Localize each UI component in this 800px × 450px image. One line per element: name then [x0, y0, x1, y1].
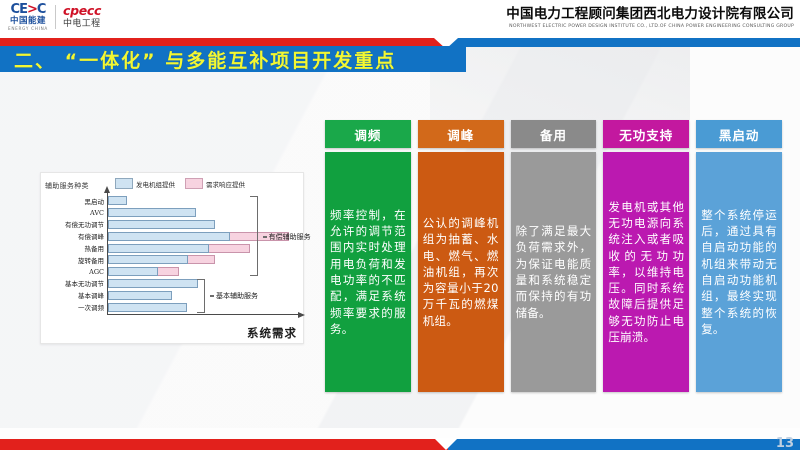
- service-column-2[interactable]: 备用除了满足最大负荷需求外，为保证电能质量和系统稳定而保持的有功储备。: [511, 120, 597, 392]
- service-column-heading: 无功支持: [603, 120, 689, 148]
- logo-energy-china: CE>C 中国能建 ENERGY CHINA: [8, 3, 48, 31]
- service-type-columns: 调频频率控制，在允许的调节范围内实时处理用电负荷和发电功率的不匹配，满足系统频率…: [325, 120, 782, 392]
- chart-bar-segment-generator: [108, 255, 188, 264]
- chart-category-label: 黑启动: [85, 196, 105, 206]
- service-column-heading: 备用: [511, 120, 597, 148]
- slide-title-bar: 二、 “一体化” 与多能互补项目开发重点: [0, 46, 466, 72]
- chart-bar-segment-generator: [108, 220, 215, 229]
- chart-bar-segment-demand-response: [188, 255, 214, 264]
- footer-band-blue: [448, 439, 800, 450]
- logo-cpecc: cpecc 中电工程: [63, 4, 101, 29]
- chart-bar-segment-generator: [108, 279, 198, 288]
- service-column-text: 公认的调峰机组为抽蓄、水电、燃气、燃油机组，再次为容量小于20万千瓦的燃煤机组。: [423, 215, 499, 329]
- service-column-text: 除了满足最大负荷需求外，为保证电能质量和系统稳定而保持的有功储备。: [516, 223, 592, 321]
- x-axis-arrow-icon: [298, 312, 305, 318]
- footer-band-notch: [434, 438, 458, 450]
- ancillary-services-chart: 辅助服务种类 发电机组提供 需求响应提供 黑启动AVC有偿无功调节有偿调峰热备用…: [40, 172, 304, 344]
- logo-energy-china-mark: CE>C: [11, 3, 46, 16]
- chart-bar-row: AVC: [108, 208, 295, 217]
- service-column-0[interactable]: 调频频率控制，在允许的调节范围内实时处理用电负荷和发电功率的不匹配，满足系统频率…: [325, 120, 411, 392]
- chart-legend: 发电机组提供 需求响应提供: [115, 178, 245, 189]
- service-column-body: 整个系统停运后，通过具有自启动功能的机组来带动无自启动功能机组，最终实现整个系统…: [696, 152, 782, 392]
- logo-energy-china-en: ENERGY CHINA: [8, 27, 48, 31]
- legend-item-generator: 发电机组提供: [115, 178, 175, 189]
- legend-swatch-demand-response: [185, 178, 203, 189]
- service-column-body: 公认的调峰机组为抽蓄、水电、燃气、燃油机组，再次为容量小于20万千瓦的燃煤机组。: [418, 152, 504, 392]
- chart-category-label: AVC: [90, 209, 104, 217]
- legend-label-demand-response: 需求响应提供: [206, 179, 245, 189]
- chart-category-label: 热备用: [85, 243, 105, 253]
- bracket-paid-services: [250, 196, 258, 276]
- chart-inner: 辅助服务种类 发电机组提供 需求响应提供 黑启动AVC有偿无功调节有偿调峰热备用…: [41, 173, 303, 343]
- legend-swatch-generator: [115, 178, 133, 189]
- chart-category-label: 一次调频: [78, 302, 104, 312]
- service-column-3[interactable]: 无功支持发电机或其他无功电源向系统注入或者吸收的无功功率，以维持电压。同时系统故…: [603, 120, 689, 392]
- chart-bar-row: 旋转备用: [108, 255, 295, 264]
- organization-name-en: NORTHWEST ELECTRIC POWER DESIGN INSTITUT…: [506, 24, 794, 29]
- service-column-text: 发电机或其他无功电源向系统注入或者吸收的无功功率，以维持电压。同时系统故障后提供…: [608, 199, 684, 346]
- organization-name: 中国电力工程顾问集团西北电力设计院有限公司 NORTHWEST ELECTRIC…: [506, 2, 794, 29]
- service-column-body: 频率控制，在允许的调节范围内实时处理用电负荷和发电功率的不匹配，满足系统频率要求…: [325, 152, 411, 392]
- chart-plot-area: 黑启动AVC有偿无功调节有偿调峰热备用旋转备用AGC基本无功调节基本调峰一次调频…: [107, 195, 295, 313]
- chart-bar-segment-demand-response: [209, 244, 250, 253]
- logo-cpecc-mark: cpecc: [63, 4, 101, 18]
- chart-bar-segment-generator: [108, 232, 230, 241]
- chart-category-label: 基本调峰: [78, 290, 104, 300]
- y-axis-arrow-icon: [104, 186, 110, 193]
- service-column-heading: 调频: [325, 120, 411, 148]
- chart-bar-segment-generator: [108, 303, 187, 312]
- service-column-heading: 调峰: [418, 120, 504, 148]
- bracket-tick-basic: [210, 295, 214, 296]
- chart-bar-segment-demand-response: [158, 267, 179, 276]
- bracket-label-paid-services: 有偿辅助服务: [269, 232, 311, 242]
- accent-band-blue: [448, 38, 800, 47]
- logo-group: CE>C 中国能建 ENERGY CHINA cpecc 中电工程: [8, 3, 101, 31]
- page-number: 13: [776, 436, 794, 450]
- chart-category-label: 旋转备用: [78, 255, 104, 265]
- chart-bar-segment-generator: [108, 208, 196, 217]
- page-title: 二、 “一体化” 与多能互补项目开发重点: [14, 46, 396, 73]
- service-column-text: 整个系统停运后，通过具有自启动功能的机组来带动无自启动功能机组，最终实现整个系统…: [701, 207, 777, 338]
- chart-bar-segment-generator: [108, 196, 127, 205]
- legend-label-generator: 发电机组提供: [136, 179, 175, 189]
- logo-energy-china-cn: 中国能建: [10, 17, 46, 26]
- service-column-1[interactable]: 调峰公认的调峰机组为抽蓄、水电、燃气、燃油机组，再次为容量小于20万千瓦的燃煤机…: [418, 120, 504, 392]
- organization-name-cn: 中国电力工程顾问集团西北电力设计院有限公司: [506, 2, 794, 22]
- logo-divider: [55, 5, 56, 29]
- service-column-text: 频率控制，在允许的调节范围内实时处理用电负荷和发电功率的不匹配，满足系统频率要求…: [330, 207, 406, 338]
- chart-y-axis-title: 辅助服务种类: [45, 181, 89, 191]
- chart-x-axis-title: 系统需求: [247, 325, 297, 341]
- legend-item-demand-response: 需求响应提供: [185, 178, 245, 189]
- logo-cpecc-cn: 中电工程: [63, 19, 101, 29]
- chart-bar-row: 有偿无功调节: [108, 220, 295, 229]
- slide-header: CE>C 中国能建 ENERGY CHINA cpecc 中电工程 中国电力工程…: [0, 0, 800, 38]
- chart-category-label: AGC: [89, 268, 104, 276]
- service-column-body: 除了满足最大负荷需求外，为保证电能质量和系统稳定而保持的有功储备。: [511, 152, 597, 392]
- chart-bar-segment-generator: [108, 267, 158, 276]
- chart-category-label: 有偿调峰: [78, 231, 104, 241]
- slide-footer: 13: [0, 439, 800, 450]
- bracket-basic-services: [197, 279, 205, 313]
- bracket-label-basic-services: 基本辅助服务: [216, 291, 258, 301]
- chart-x-axis: [107, 314, 301, 315]
- footer-band-red: [0, 439, 448, 450]
- bracket-tick-paid: [263, 236, 267, 237]
- chart-bar-segment-generator: [108, 291, 172, 300]
- chart-category-label: 有偿无功调节: [65, 219, 104, 229]
- chart-bar-row: AGC: [108, 267, 295, 276]
- chart-category-label: 基本无功调节: [65, 278, 104, 288]
- service-column-body: 发电机或其他无功电源向系统注入或者吸收的无功功率，以维持电压。同时系统故障后提供…: [603, 152, 689, 392]
- chart-bar-segment-generator: [108, 244, 209, 253]
- service-column-4[interactable]: 黑启动整个系统停运后，通过具有自启动功能的机组来带动无自启动功能机组，最终实现整…: [696, 120, 782, 392]
- service-column-heading: 黑启动: [696, 120, 782, 148]
- slide-canvas: CE>C 中国能建 ENERGY CHINA cpecc 中电工程 中国电力工程…: [0, 0, 800, 450]
- chart-bar-row: 热备用: [108, 244, 295, 253]
- chart-bar-row: 黑启动: [108, 196, 295, 205]
